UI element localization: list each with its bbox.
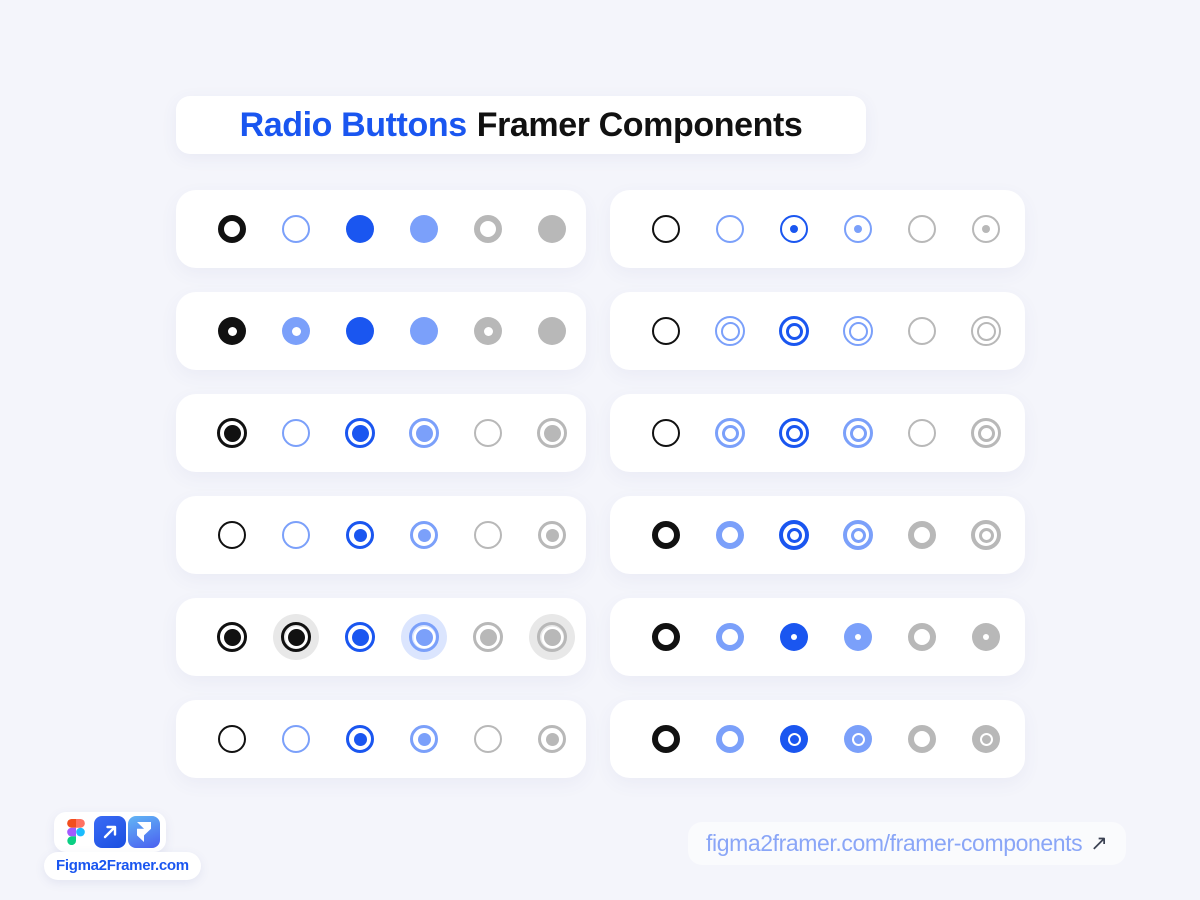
radio-gray-thin-ring[interactable] (474, 215, 502, 243)
radio-blue-solid-white-ring[interactable] (780, 725, 808, 753)
page-title: Radio ButtonsFramer Components (240, 106, 803, 145)
radio-cards-grid (176, 190, 1026, 802)
radio-lightblue-thick-ring[interactable] (716, 521, 744, 549)
radio-black-ring-halo[interactable] (281, 622, 311, 652)
radio-black-ring-big-dot[interactable] (217, 418, 247, 448)
radio-gray-double[interactable] (971, 316, 1001, 346)
card-2-left (176, 292, 586, 370)
radio-slot[interactable] (698, 401, 762, 465)
radio-gray-thin-ring[interactable] (908, 317, 936, 345)
external-link-arrow-icon: ↗ (1090, 831, 1108, 856)
radio-slot[interactable] (456, 197, 520, 261)
radio-slot[interactable] (890, 503, 954, 567)
radio-slot[interactable] (890, 605, 954, 669)
radio-slot[interactable] (456, 503, 520, 567)
radio-lightblue-double[interactable] (715, 316, 745, 346)
radio-slot[interactable] (264, 707, 328, 771)
card-4-left (176, 496, 586, 574)
radio-group (634, 401, 1018, 465)
radio-gray-ring-halo[interactable] (537, 622, 567, 652)
radio-lightblue-solid-ring[interactable] (844, 725, 872, 753)
page-title-rest: Framer Components (477, 106, 803, 144)
radio-slot[interactable] (762, 401, 826, 465)
radio-slot[interactable] (762, 707, 826, 771)
radio-card-row (176, 598, 1026, 676)
radio-gray-thin-ring[interactable] (474, 419, 502, 447)
radio-black-thin-ring[interactable] (652, 419, 680, 447)
radio-slot[interactable] (698, 503, 762, 567)
brand-icon-group (54, 812, 166, 852)
radio-gray-thin-ring[interactable] (474, 725, 502, 753)
radio-slot[interactable] (762, 299, 826, 363)
radio-black-ring-big-dot[interactable] (217, 622, 247, 652)
radio-slot[interactable] (698, 707, 762, 771)
radio-gray-solid[interactable] (538, 215, 566, 243)
radio-blue-ring-med-dot[interactable] (346, 521, 374, 549)
radio-blue-ring-big-dot[interactable] (345, 418, 375, 448)
radio-slot[interactable] (456, 605, 520, 669)
radio-slot[interactable] (456, 707, 520, 771)
radio-slot[interactable] (200, 605, 264, 669)
radio-card-row (176, 496, 1026, 574)
card-5-right (610, 598, 1025, 676)
radio-slot[interactable] (392, 401, 456, 465)
radio-slot[interactable] (264, 299, 328, 363)
radio-slot[interactable] (634, 197, 698, 261)
radio-slot[interactable] (264, 401, 328, 465)
radio-group (634, 707, 1018, 771)
radio-slot[interactable] (328, 605, 392, 669)
radio-slot[interactable] (200, 197, 264, 261)
radio-gray-solid-tiny-dot[interactable] (972, 623, 1000, 651)
radio-gray-ring-big-dot[interactable] (537, 418, 567, 448)
radio-slot[interactable] (520, 503, 584, 567)
radio-slot[interactable] (890, 197, 954, 261)
card-1-right (610, 190, 1025, 268)
radio-blue-donut-ring[interactable] (779, 520, 809, 550)
radio-slot[interactable] (456, 401, 520, 465)
radio-blue-double[interactable] (779, 316, 809, 346)
radio-slot[interactable] (200, 707, 264, 771)
radio-gray-ring-big-dot[interactable] (473, 622, 503, 652)
radio-slot[interactable] (634, 299, 698, 363)
page-title-card: Radio ButtonsFramer Components (176, 96, 866, 154)
radio-slot[interactable] (698, 605, 762, 669)
radio-lightblue-thin-ring[interactable] (282, 419, 310, 447)
radio-slot[interactable] (200, 503, 264, 567)
radio-slot[interactable] (200, 401, 264, 465)
radio-group (634, 197, 1018, 261)
radio-lightblue-thin-ring[interactable] (282, 521, 310, 549)
radio-group (634, 299, 1018, 363)
radio-slot[interactable] (200, 299, 264, 363)
site-url-link[interactable]: figma2framer.com/framer-components ↗ (688, 822, 1126, 865)
radio-black-thick-ring[interactable] (652, 521, 680, 549)
radio-blue-ring-med-dot[interactable] (346, 725, 374, 753)
radio-card-row (176, 700, 1026, 778)
radio-slot[interactable] (826, 605, 890, 669)
radio-lightblue-double2-b[interactable] (843, 418, 873, 448)
radio-lightblue-solid[interactable] (410, 317, 438, 345)
radio-gray-thin-ring[interactable] (908, 215, 936, 243)
radio-slot[interactable] (264, 605, 328, 669)
radio-slot[interactable] (392, 503, 456, 567)
radio-lightblue-ring-big[interactable] (409, 418, 439, 448)
radio-black-thin-ring[interactable] (218, 521, 246, 549)
radio-slot[interactable] (954, 605, 1018, 669)
radio-gray-solid-hole[interactable] (474, 317, 502, 345)
radio-gray-ring-dot[interactable] (972, 215, 1000, 243)
radio-slot[interactable] (634, 503, 698, 567)
radio-black-thick-ring[interactable] (218, 215, 246, 243)
radio-black-thick-ring[interactable] (652, 623, 680, 651)
radio-blue-double2[interactable] (779, 418, 809, 448)
radio-lightblue-thin-ring[interactable] (716, 215, 744, 243)
radio-slot[interactable] (392, 707, 456, 771)
radio-group (200, 197, 584, 261)
radio-lightblue-thin-ring[interactable] (282, 725, 310, 753)
radio-gray-thick-ring[interactable] (908, 623, 936, 651)
card-4-right (610, 496, 1025, 574)
radio-slot[interactable] (634, 401, 698, 465)
radio-gray-thick-ring[interactable] (908, 725, 936, 753)
framer-icon (128, 816, 160, 848)
radio-slot[interactable] (392, 605, 456, 669)
radio-slot[interactable] (954, 401, 1018, 465)
radio-slot[interactable] (826, 197, 890, 261)
radio-slot[interactable] (826, 503, 890, 567)
radio-slot[interactable] (328, 197, 392, 261)
radio-slot[interactable] (328, 401, 392, 465)
radio-blue-solid[interactable] (346, 317, 374, 345)
radio-lightblue-solid[interactable] (410, 215, 438, 243)
radio-slot[interactable] (392, 299, 456, 363)
radio-slot[interactable] (762, 503, 826, 567)
radio-gray-solid-white-ring[interactable] (972, 725, 1000, 753)
radio-slot[interactable] (762, 605, 826, 669)
radio-slot[interactable] (826, 401, 890, 465)
radio-slot[interactable] (520, 299, 584, 363)
radio-lightblue-double-2[interactable] (843, 316, 873, 346)
radio-slot[interactable] (264, 503, 328, 567)
card-6-right (610, 700, 1025, 778)
brand-name: Figma2Framer.com (56, 857, 189, 874)
radio-gray-ring-med-dot[interactable] (538, 521, 566, 549)
radio-lightblue-double2[interactable] (715, 418, 745, 448)
card-5-left (176, 598, 586, 676)
radio-card-row (176, 394, 1026, 472)
radio-slot[interactable] (954, 197, 1018, 261)
arrow-up-right-icon (94, 816, 126, 848)
radio-slot[interactable] (328, 299, 392, 363)
radio-slot[interactable] (890, 401, 954, 465)
radio-lightblue-thin-ring[interactable] (282, 215, 310, 243)
card-3-left (176, 394, 586, 472)
card-1-left (176, 190, 586, 268)
radio-card-row (176, 292, 1026, 370)
card-2-right (610, 292, 1025, 370)
radio-group (634, 605, 1018, 669)
radio-group (634, 503, 1018, 567)
radio-blue-solid-tiny-dot[interactable] (780, 623, 808, 651)
radio-slot[interactable] (890, 707, 954, 771)
radio-lightblue-ring-dot[interactable] (844, 215, 872, 243)
radio-slot[interactable] (826, 707, 890, 771)
brand-name-pill: Figma2Framer.com (44, 852, 201, 880)
radio-slot[interactable] (826, 299, 890, 363)
radio-lightblue-ring-med[interactable] (410, 725, 438, 753)
radio-group (200, 299, 584, 363)
radio-blue-solid[interactable] (346, 215, 374, 243)
radio-slot[interactable] (890, 299, 954, 363)
radio-group (200, 605, 584, 669)
radio-lightblue-thick-ring[interactable] (716, 623, 744, 651)
radio-gray-thick-ring[interactable] (908, 521, 936, 549)
radio-black-solid-hole[interactable] (218, 317, 246, 345)
radio-slot[interactable] (392, 197, 456, 261)
radio-black-thick-ring[interactable] (652, 725, 680, 753)
radio-lightblue-solid-hole[interactable] (282, 317, 310, 345)
radio-black-thin-ring[interactable] (218, 725, 246, 753)
radio-group (200, 401, 584, 465)
radio-card-row (176, 190, 1026, 268)
radio-group (200, 503, 584, 567)
radio-slot[interactable] (520, 401, 584, 465)
radio-lightblue-thick-ring[interactable] (716, 725, 744, 753)
radio-gray-donut-ring[interactable] (971, 520, 1001, 550)
radio-black-thin-ring[interactable] (652, 215, 680, 243)
radio-slot[interactable] (698, 299, 762, 363)
card-3-right (610, 394, 1025, 472)
card-6-left (176, 700, 586, 778)
radio-slot[interactable] (634, 707, 698, 771)
radio-slot[interactable] (954, 707, 1018, 771)
radio-slot[interactable] (954, 299, 1018, 363)
radio-slot[interactable] (264, 197, 328, 261)
radio-gray-thin-ring[interactable] (908, 419, 936, 447)
site-url-text: figma2framer.com/framer-components (706, 830, 1082, 857)
radio-slot[interactable] (520, 605, 584, 669)
radio-slot[interactable] (954, 503, 1018, 567)
radio-lightblue-donut-ring[interactable] (843, 520, 873, 550)
radio-gray-double2[interactable] (971, 418, 1001, 448)
radio-lightblue-ring-halo[interactable] (409, 622, 439, 652)
figma-icon (60, 816, 92, 848)
radio-gray-ring-med-dot[interactable] (538, 725, 566, 753)
radio-gray-solid[interactable] (538, 317, 566, 345)
radio-slot[interactable] (456, 299, 520, 363)
radio-slot[interactable] (762, 197, 826, 261)
page-title-accent: Radio Buttons (240, 106, 467, 144)
radio-blue-ring-big-dot[interactable] (345, 622, 375, 652)
radio-lightblue-ring-med[interactable] (410, 521, 438, 549)
radio-group (200, 707, 584, 771)
radio-gray-thin-ring[interactable] (474, 521, 502, 549)
radio-slot[interactable] (328, 707, 392, 771)
radio-slot[interactable] (520, 197, 584, 261)
brand-logo[interactable]: Figma2Framer.com (44, 808, 224, 884)
radio-lightblue-solid-tiny[interactable] (844, 623, 872, 651)
radio-slot[interactable] (698, 197, 762, 261)
radio-blue-ring-dot[interactable] (780, 215, 808, 243)
radio-slot[interactable] (634, 605, 698, 669)
radio-slot[interactable] (520, 707, 584, 771)
radio-slot[interactable] (328, 503, 392, 567)
radio-black-thin-ring[interactable] (652, 317, 680, 345)
